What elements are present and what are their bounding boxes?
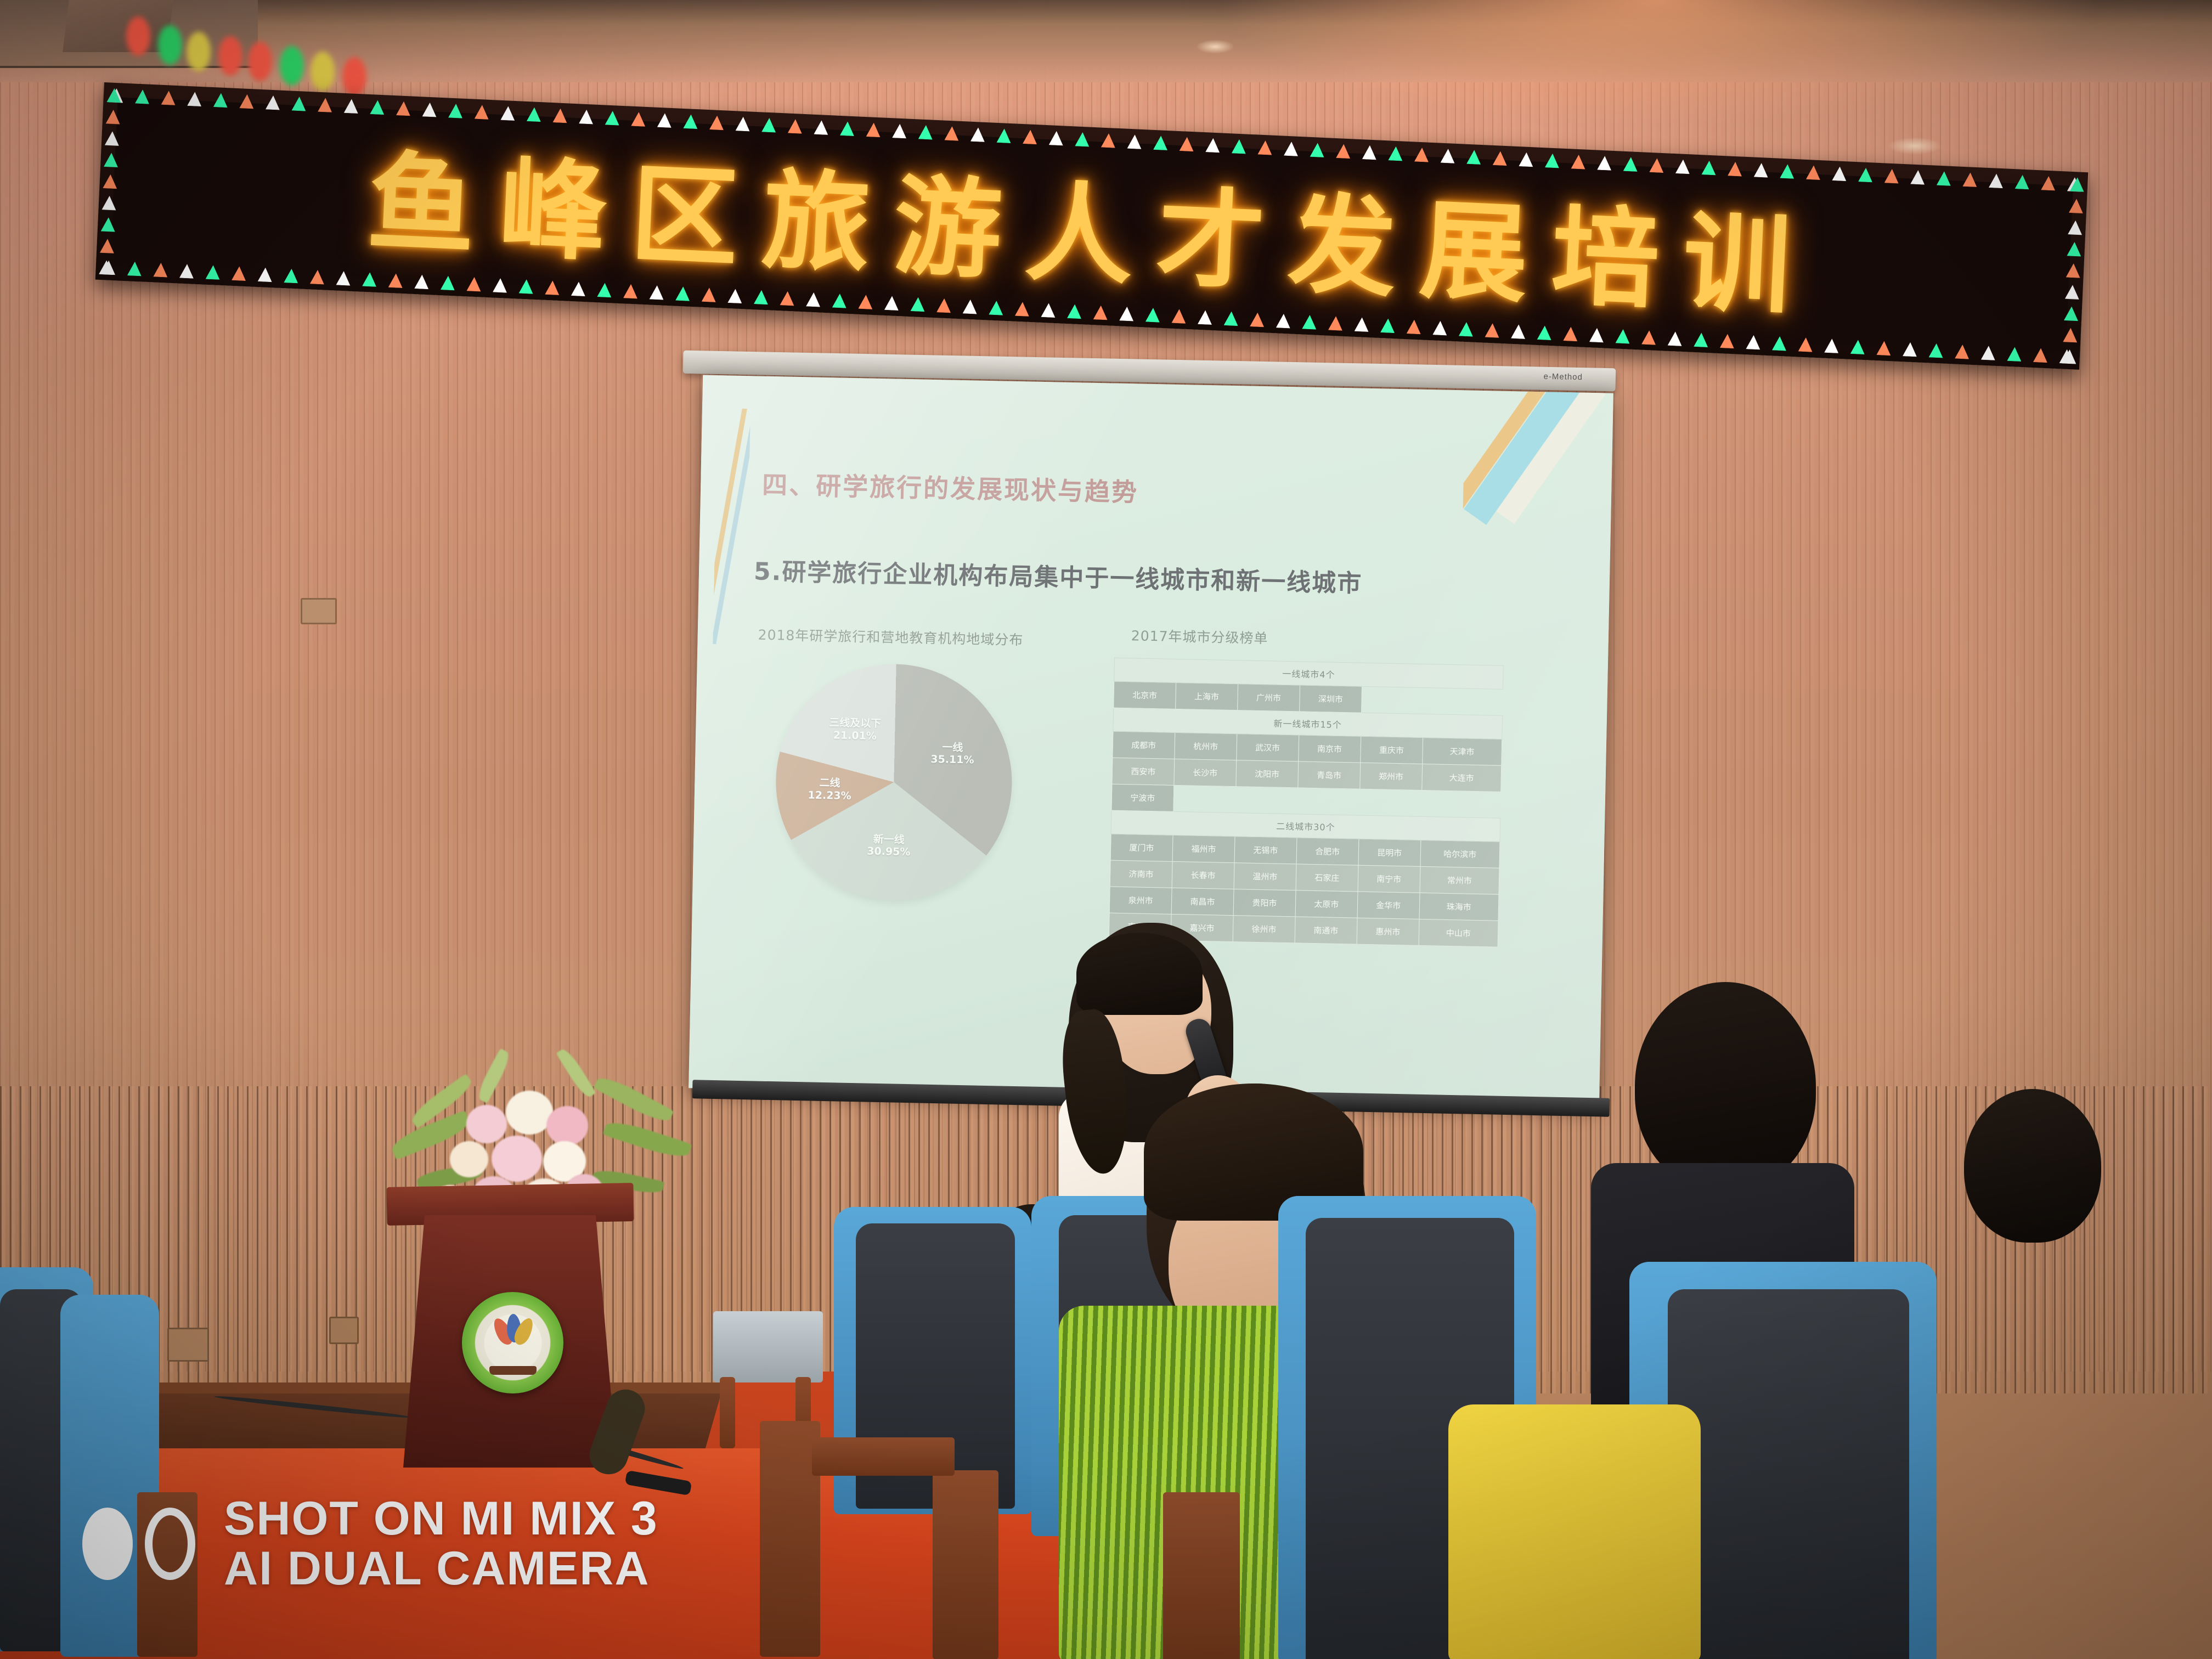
led-bulb	[1466, 150, 1481, 165]
led-bulb	[106, 88, 121, 103]
led-bulb	[1563, 326, 1578, 341]
led-bulb	[571, 281, 586, 296]
led-bulb	[362, 272, 377, 287]
led-bulb	[187, 92, 202, 106]
photo-scene: 鱼峰区旅游人才发展培训 e-Method 四、研学旅行的发展现状与趋势 5.研学…	[0, 0, 2212, 1659]
led-bulb	[1962, 172, 1977, 187]
flower-leaf	[603, 1117, 692, 1162]
led-bulb	[318, 98, 332, 112]
led-bulb	[1119, 306, 1134, 321]
led-bulb	[2015, 174, 2030, 189]
led-bulb	[892, 123, 907, 138]
led-bulb	[1511, 324, 1526, 339]
led-bulb	[1806, 165, 1821, 180]
led-bulb	[1407, 319, 1421, 334]
audience-yellow-shirt	[1448, 1404, 1701, 1659]
led-bulb	[527, 107, 541, 122]
led-bulb	[266, 95, 280, 110]
led-bulb	[1145, 308, 1160, 323]
led-bulb	[1232, 139, 1246, 154]
led-bulb	[884, 296, 899, 311]
led-bulb	[1328, 316, 1343, 331]
led-bulb	[806, 292, 821, 307]
led-bulb	[1023, 129, 1037, 144]
led-bulb	[396, 101, 411, 116]
led-bulb	[1701, 160, 1716, 175]
flower-bloom	[466, 1105, 507, 1143]
ceiling-panel-secondary	[63, 0, 173, 52]
led-bulb	[370, 100, 385, 115]
led-bulb	[1850, 340, 1865, 354]
led-bulb	[814, 120, 828, 135]
led-bulb	[1910, 170, 1925, 185]
flower-bloom	[546, 1106, 588, 1145]
led-bulb	[441, 275, 455, 290]
led-bulb	[344, 99, 359, 114]
led-bulb	[232, 266, 246, 281]
led-bulb	[1093, 305, 1108, 320]
led-bulb	[918, 125, 933, 139]
led-bulb	[2062, 349, 2076, 364]
led-bulb	[1824, 338, 1839, 353]
led-bulb	[284, 268, 298, 283]
ceiling-spot-light-2	[1887, 137, 1942, 155]
audience-head	[1964, 1089, 2101, 1243]
side-table-leg	[720, 1377, 735, 1448]
led-bulb	[552, 108, 567, 123]
led-bulb	[1989, 173, 2004, 188]
side-table	[713, 1311, 823, 1383]
led-bulb	[631, 112, 646, 127]
led-bulb	[1310, 143, 1325, 157]
led-bulb	[1257, 140, 1272, 155]
led-bulb	[1180, 137, 1194, 151]
led-bulb	[1537, 325, 1552, 340]
led-bulb	[944, 126, 959, 141]
led-bulb	[1981, 346, 1996, 360]
led-bulb	[761, 117, 776, 132]
led-bulb	[1250, 312, 1265, 327]
led-bulb	[545, 280, 560, 295]
flower-bloom	[492, 1136, 542, 1182]
led-bulb	[1780, 164, 1795, 179]
led-bulb	[1224, 311, 1239, 326]
led-bulb	[1276, 313, 1291, 328]
led-bulb	[970, 127, 985, 142]
led-bulb	[1153, 136, 1168, 150]
led-bulb	[657, 113, 672, 128]
led-bulb	[910, 297, 925, 312]
led-bulb	[832, 294, 847, 308]
led-bulb	[161, 91, 176, 105]
led-bulb	[1171, 309, 1186, 324]
led-bulb	[153, 262, 168, 277]
speaker-fringe	[1076, 933, 1203, 1015]
string-light-green-1	[158, 25, 182, 65]
led-bulb	[1597, 156, 1612, 171]
led-bulb	[1798, 337, 1813, 352]
camera-lens-outline-icon	[145, 1508, 195, 1580]
led-bulb	[213, 93, 228, 108]
seat-cushion-front-right	[1668, 1289, 1909, 1659]
led-bulb	[388, 273, 403, 288]
led-bulb	[996, 128, 1011, 143]
wall-outlet-left	[167, 1328, 209, 1362]
ceiling-light-glow	[1217, 0, 2102, 126]
led-bulb	[2007, 347, 2022, 362]
led-bulb	[1198, 310, 1212, 325]
led-bulb	[623, 284, 638, 298]
led-bulb	[1075, 132, 1090, 146]
dual-camera-icon	[82, 1508, 195, 1580]
led-bulb	[1858, 167, 1873, 182]
led-bulb	[336, 271, 351, 286]
school-emblem	[462, 1292, 563, 1393]
led-bulb	[475, 105, 489, 120]
led-bulb	[605, 111, 620, 126]
flower-bloom	[450, 1141, 488, 1177]
led-bulb	[858, 295, 873, 309]
led-bulb	[2070, 177, 2085, 192]
wall-thermostat	[301, 598, 337, 624]
led-bulb	[1694, 332, 1708, 347]
led-bulb	[1205, 138, 1220, 153]
flower-leaf	[593, 1073, 674, 1127]
led-bulb	[650, 285, 664, 300]
led-bulb	[310, 269, 325, 284]
led-bulb	[675, 286, 690, 301]
watermark-line-2: AI DUAL CAMERA	[224, 1544, 658, 1593]
led-bulb	[1015, 302, 1030, 317]
led-bulb	[205, 265, 220, 280]
led-bulb	[1336, 144, 1351, 159]
led-bulb	[1641, 330, 1656, 345]
led-bulb	[1545, 153, 1560, 168]
led-bulb	[936, 298, 951, 313]
led-bulb	[963, 299, 978, 314]
led-bulb	[2033, 348, 2048, 363]
seat-armrest-wood	[933, 1470, 998, 1659]
led-bulb	[493, 278, 507, 293]
led-bulb	[788, 119, 803, 134]
led-bulb	[1589, 328, 1604, 342]
led-bulb	[1571, 154, 1585, 169]
led-bulb	[1493, 151, 1508, 166]
led-bulb	[1441, 149, 1455, 163]
camera-watermark: SHOT ON MI MIX 3 AI DUAL CAMERA	[82, 1494, 658, 1593]
led-bulb	[1414, 147, 1429, 162]
led-bulb	[1675, 159, 1690, 174]
string-light-red-2	[218, 36, 242, 76]
led-bulb	[1519, 152, 1533, 167]
led-bulb	[1668, 331, 1683, 346]
led-bulb	[1876, 341, 1891, 356]
led-bulb	[1832, 166, 1847, 181]
led-bulb	[1754, 163, 1769, 178]
led-bulb	[1355, 317, 1369, 332]
led-bulb	[448, 104, 463, 119]
led-bulb	[135, 89, 150, 104]
led-bulb	[1728, 161, 1742, 176]
led-bulb	[519, 279, 534, 294]
led-bulb	[866, 122, 881, 137]
led-bulb	[1772, 336, 1787, 351]
led-bulb	[1388, 146, 1403, 161]
led-bulb	[1615, 329, 1630, 343]
led-bulb	[1101, 133, 1116, 148]
led-bulb	[1041, 303, 1056, 318]
led-bulb	[1127, 134, 1142, 149]
led-bulb	[1903, 342, 1917, 357]
string-light-red-1	[126, 16, 150, 56]
led-bulb	[1459, 321, 1474, 336]
led-bulb	[1623, 157, 1638, 172]
led-bulb	[466, 276, 481, 291]
led-bulb	[579, 109, 594, 124]
led-bulb	[1649, 158, 1664, 173]
led-bulb	[1929, 343, 1944, 358]
led-bulb	[1284, 142, 1299, 156]
flower-bloom	[506, 1091, 553, 1135]
led-bulb	[1955, 345, 1970, 359]
string-light-red-3	[248, 42, 272, 81]
string-light-green-2	[280, 46, 304, 86]
watermark-text: SHOT ON MI MIX 3 AI DUAL CAMERA	[224, 1494, 658, 1593]
led-bulb	[683, 114, 698, 129]
string-light-red-4	[342, 57, 366, 97]
led-bulb	[1746, 335, 1760, 349]
led-bulb	[1380, 318, 1395, 333]
led-bulb	[840, 121, 855, 136]
led-bulb	[1067, 304, 1082, 319]
led-bulb	[702, 287, 716, 302]
led-bulb	[2041, 176, 2056, 190]
led-bulb	[1720, 334, 1735, 348]
led-bulb	[780, 291, 794, 306]
seat-armrest-wood	[1163, 1492, 1240, 1659]
led-bulb	[597, 283, 612, 297]
led-bulb	[239, 94, 254, 109]
led-bulb	[179, 264, 194, 279]
string-light-yellow-2	[311, 52, 335, 91]
led-bulb	[989, 301, 1003, 315]
seat-armrest-wood	[760, 1421, 820, 1657]
led-bulb	[1302, 315, 1317, 330]
led-bulb	[1049, 131, 1064, 145]
led-bulb	[500, 106, 515, 121]
led-bulb	[422, 102, 437, 117]
led-bulb	[1485, 323, 1499, 338]
watermark-line-1: SHOT ON MI MIX 3	[224, 1494, 658, 1543]
led-bulb	[1432, 320, 1447, 335]
ceiling-spot-light	[1196, 39, 1234, 54]
led-bulb	[709, 115, 724, 130]
led-bulb	[414, 274, 429, 289]
led-bulb	[727, 289, 742, 303]
audience-head	[1635, 982, 1816, 1190]
led-bulb	[127, 261, 142, 276]
led-bulb	[736, 116, 751, 131]
led-bulb	[1884, 168, 1899, 183]
led-bulb	[754, 290, 769, 304]
led-bulb	[291, 97, 306, 111]
housing-brand-label: e-Method	[1543, 372, 1583, 382]
wall-outlet-right	[329, 1317, 359, 1344]
emblem-book-icon	[489, 1366, 537, 1375]
string-light-yellow-1	[187, 32, 211, 71]
led-bulb	[1937, 171, 1951, 186]
led-bulb	[1362, 145, 1377, 160]
camera-lens-filled-icon	[82, 1508, 133, 1580]
seat-row-rail	[812, 1437, 955, 1476]
led-bulb	[99, 260, 114, 275]
led-bulb	[258, 267, 273, 282]
